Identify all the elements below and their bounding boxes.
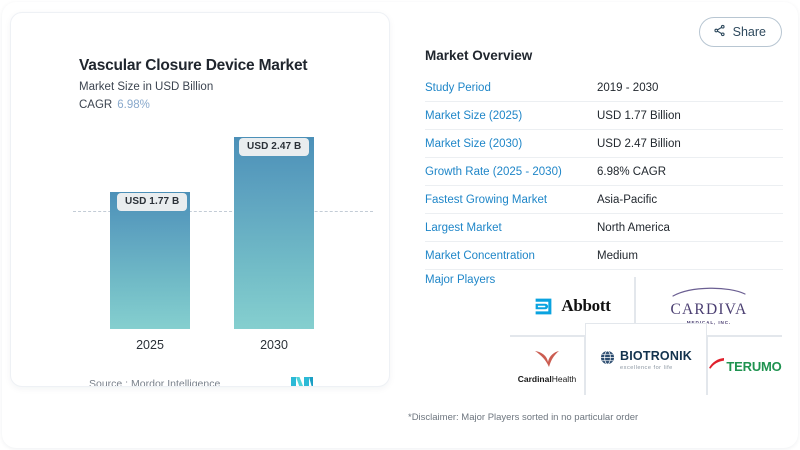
- row-key: Growth Rate (2025 - 2030): [425, 166, 597, 178]
- player-logo-terumo: TERUMO: [707, 336, 782, 395]
- bar-2025: [110, 192, 190, 329]
- row-key: Market Concentration: [425, 250, 597, 262]
- overview-table: Study Period 2019 - 2030 Market Size (20…: [425, 74, 783, 270]
- player-logo-biotronik: BIOTRONIK excellence for life: [585, 323, 707, 395]
- table-row: Market Size (2025) USD 1.77 Billion: [425, 102, 783, 130]
- screenshot-root: Share Vascular Closure Device Market Mar…: [0, 0, 800, 450]
- abbott-mark-icon: [533, 296, 554, 317]
- share-icon: [713, 24, 726, 40]
- player-logo-cardinal-health: CardinalHealth: [510, 336, 585, 395]
- overview-title: Market Overview: [425, 48, 532, 63]
- mordor-intelligence-logo: [291, 375, 313, 387]
- row-key: Study Period: [425, 82, 597, 94]
- row-key: Market Size (2025): [425, 110, 597, 122]
- row-value: 6.98% CAGR: [597, 166, 666, 178]
- cardinal-bird-icon: [534, 349, 560, 369]
- biotronik-globe-icon: [600, 350, 615, 370]
- bar-label-2025: USD 1.77 B: [117, 193, 187, 211]
- row-value: Asia-Pacific: [597, 194, 657, 206]
- row-value: Medium: [597, 250, 638, 262]
- bar-2030: [234, 137, 314, 329]
- share-button[interactable]: Share: [699, 17, 782, 47]
- major-players-logo-grid: Abbott CARDIVA MEDICAL, INC. CardinalHea…: [510, 277, 782, 395]
- chart-subtitle: Market Size in USD Billion: [79, 81, 213, 93]
- chart-card: Vascular Closure Device Market Market Si…: [10, 12, 390, 387]
- biotronik-wordmark: BIOTRONIK: [620, 349, 692, 363]
- table-row: Market Concentration Medium: [425, 242, 783, 270]
- row-value: 2019 - 2030: [597, 82, 658, 94]
- cardinal-health-wordmark: CardinalHealth: [518, 375, 577, 384]
- chart-plot-area: USD 1.77 B USD 2.47 B 2025 2030: [11, 123, 389, 358]
- cardiva-swoosh-icon: [671, 287, 747, 298]
- x-tick-2025: 2025: [110, 338, 190, 352]
- cagr-label: CAGR: [79, 99, 112, 111]
- cagr-value: 6.98%: [117, 99, 150, 111]
- x-tick-2030: 2030: [234, 338, 314, 352]
- major-players-label: Major Players: [425, 274, 495, 286]
- table-row: Largest Market North America: [425, 214, 783, 242]
- cardiva-wordmark: CARDIVA: [670, 302, 747, 318]
- row-value: North America: [597, 222, 670, 234]
- row-value: USD 2.47 Billion: [597, 138, 681, 150]
- table-row: Market Size (2030) USD 2.47 Billion: [425, 130, 783, 158]
- abbott-wordmark: Abbott: [561, 296, 610, 316]
- chart-title: Vascular Closure Device Market: [79, 57, 307, 75]
- bar-label-2030: USD 2.47 B: [239, 138, 309, 156]
- table-row: Fastest Growing Market Asia-Pacific: [425, 186, 783, 214]
- share-button-label: Share: [733, 25, 766, 39]
- chart-cagr: CAGR6.98%: [79, 99, 150, 111]
- disclaimer-text: *Disclaimer: Major Players sorted in no …: [408, 412, 638, 423]
- terumo-wordmark: TERUMO: [726, 359, 781, 374]
- table-row: Study Period 2019 - 2030: [425, 74, 783, 102]
- biotronik-tagline: excellence for life: [620, 366, 692, 372]
- row-key: Fastest Growing Market: [425, 194, 597, 206]
- row-value: USD 1.77 Billion: [597, 110, 681, 122]
- terumo-mark-icon: [708, 357, 725, 375]
- table-row: Growth Rate (2025 - 2030) 6.98% CAGR: [425, 158, 783, 186]
- row-key: Largest Market: [425, 222, 597, 234]
- row-key: Market Size (2030): [425, 138, 597, 150]
- chart-source: Source : Mordor Intelligence: [89, 378, 220, 387]
